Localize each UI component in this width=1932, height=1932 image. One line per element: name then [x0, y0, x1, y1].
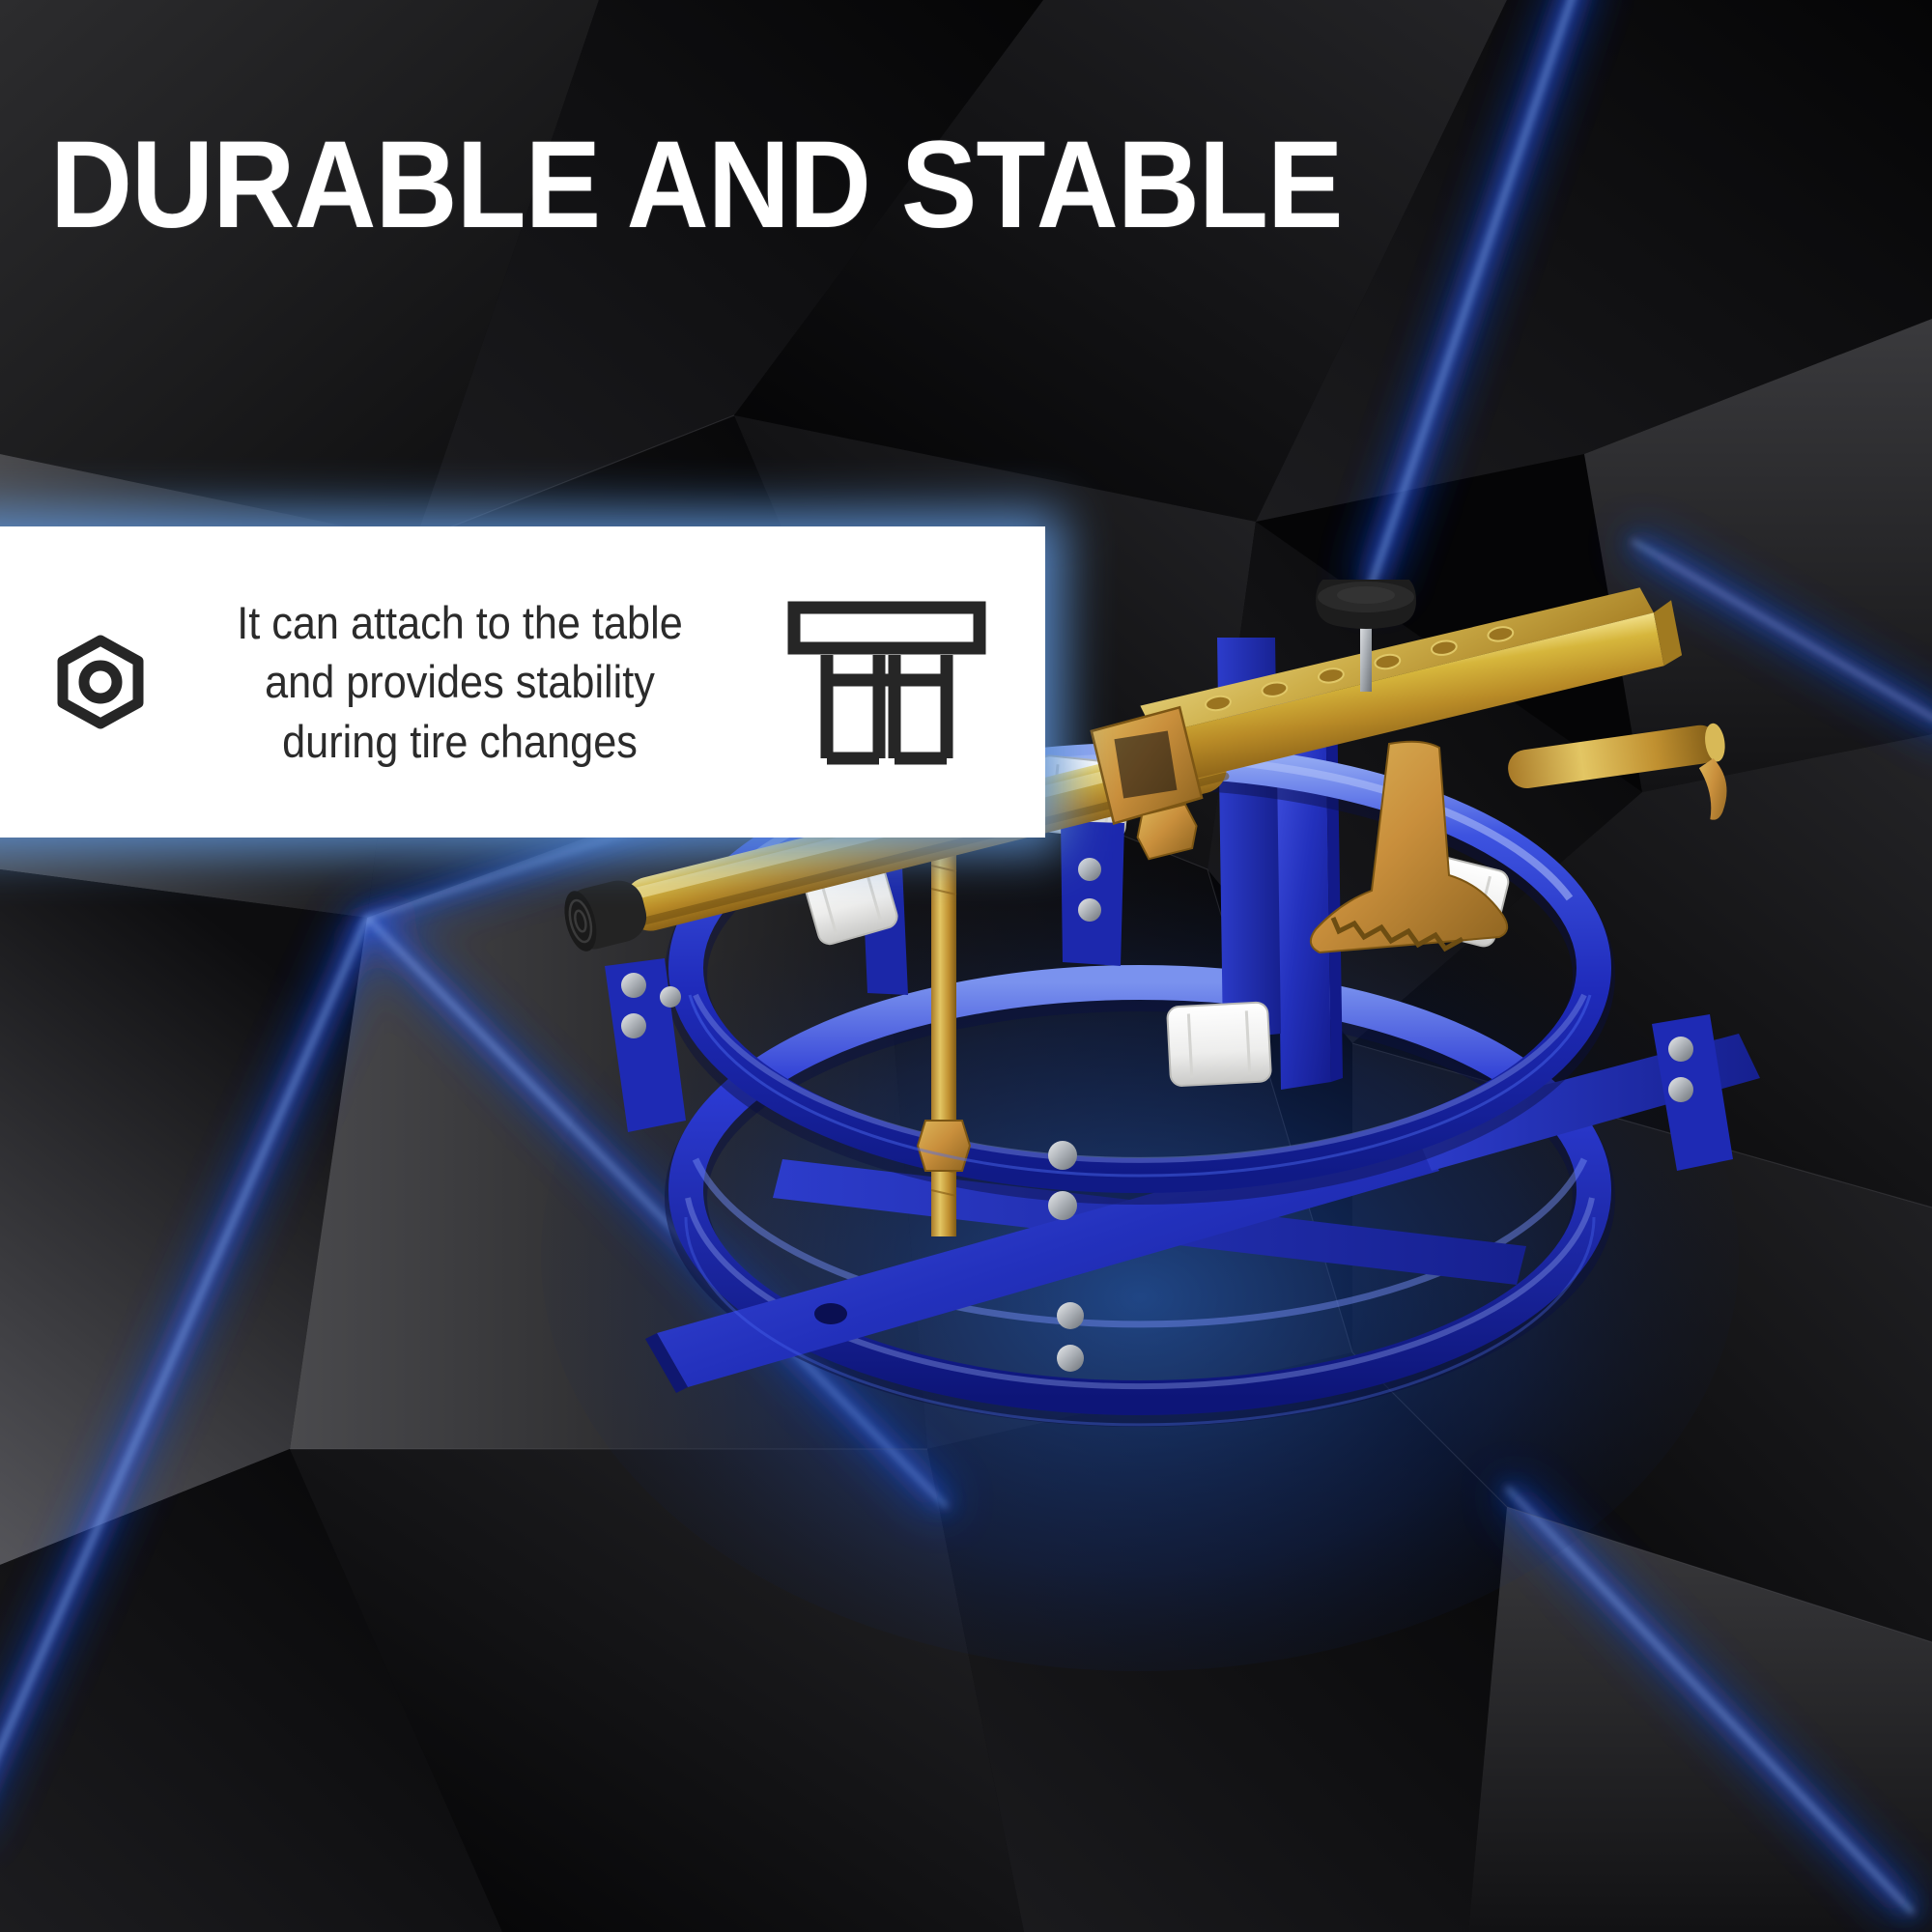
feature-text: It can attach to the table and provides … [220, 593, 700, 770]
feature-text-line-2: and provides stability [220, 652, 700, 711]
feature-text-line-1: It can attach to the table [220, 593, 700, 652]
table-icon [761, 599, 1012, 765]
clamp-bracket [1061, 821, 1124, 966]
product-banner: DURABLE AND STABLE [0, 0, 1932, 1932]
feature-text-line-3: during tire changes [220, 712, 700, 771]
hex-nut-icon [46, 632, 155, 732]
page-title: DURABLE AND STABLE [50, 124, 1343, 247]
feature-card: It can attach to the table and provides … [0, 526, 1045, 838]
gold-locking-pin [1506, 722, 1736, 847]
